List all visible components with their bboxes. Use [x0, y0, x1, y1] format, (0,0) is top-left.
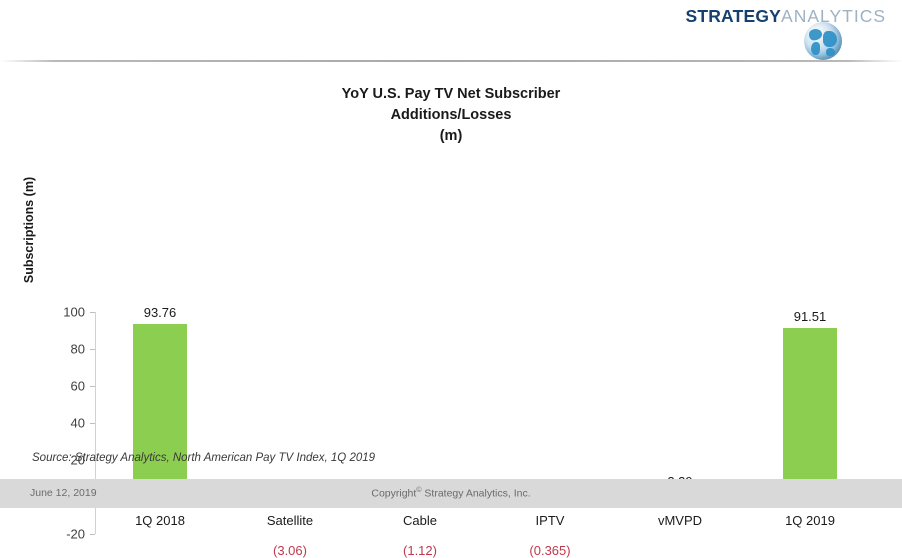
y-axis-tick-mark: [90, 423, 95, 424]
globe-landmass: [823, 31, 837, 47]
logo-primary-text: STRATEGY: [685, 6, 781, 26]
bar-negative-value-label: (1.12): [403, 543, 437, 558]
chart-title-line-1: YoY U.S. Pay TV Net Subscriber: [0, 84, 902, 105]
bar-chart: Subscriptions (m) 100806040200-2093.761Q…: [0, 150, 902, 450]
x-axis-category-label: vMVPD: [658, 513, 702, 528]
y-axis-tick-mark: [90, 386, 95, 387]
copyright-prefix: Copyright: [371, 488, 416, 500]
globe-landmass: [811, 42, 820, 55]
bar-1q-2019: [783, 328, 837, 497]
y-axis-tick-label: 100: [39, 305, 85, 320]
logo-secondary-text: ANALYTICS: [781, 6, 886, 26]
chart-title-line-2: Additions/Losses: [0, 105, 902, 126]
bar-negative-value-label: (3.06): [273, 543, 307, 558]
slide-header: STRATEGYANALYTICS: [0, 0, 902, 62]
bar-value-label: 93.76: [144, 305, 177, 320]
x-axis-category-label: Cable: [403, 513, 437, 528]
brand-logo: STRATEGYANALYTICS: [685, 6, 886, 26]
x-axis-category-label: 1Q 2018: [135, 513, 185, 528]
header-divider: [0, 60, 902, 62]
chart-title: YoY U.S. Pay TV Net Subscriber Additions…: [0, 84, 902, 147]
y-axis-title: Subscriptions (m): [22, 150, 36, 310]
bar-negative-value-label: (0.365): [529, 543, 570, 558]
y-axis-tick-label: 40: [39, 416, 85, 431]
copyright-suffix: Strategy Analytics, Inc.: [421, 488, 530, 500]
y-axis-tick-mark: [90, 534, 95, 535]
globe-landmass: [808, 28, 823, 41]
footer-copyright: Copyright© Strategy Analytics, Inc.: [0, 487, 902, 500]
x-axis-category-label: Satellite: [267, 513, 313, 528]
y-axis-tick-label: 80: [39, 342, 85, 357]
globe-landmass: [826, 48, 835, 56]
source-note: Source: Strategy Analytics, North Americ…: [32, 452, 375, 464]
logo-wordmark: STRATEGYANALYTICS: [685, 6, 886, 26]
chart-title-line-3: (m): [0, 126, 902, 147]
y-axis-tick-label: -20: [39, 527, 85, 542]
slide-footer: June 12, 2019 Copyright© Strategy Analyt…: [0, 479, 902, 508]
y-axis-tick-label: 60: [39, 379, 85, 394]
y-axis-tick-mark: [90, 312, 95, 313]
y-axis-tick-mark: [90, 349, 95, 350]
x-axis-category-label: IPTV: [536, 513, 565, 528]
bar-value-label: 91.51: [794, 309, 827, 324]
x-axis-category-label: 1Q 2019: [785, 513, 835, 528]
globe-icon: [804, 22, 842, 60]
bar-1q-2018: [133, 324, 187, 497]
